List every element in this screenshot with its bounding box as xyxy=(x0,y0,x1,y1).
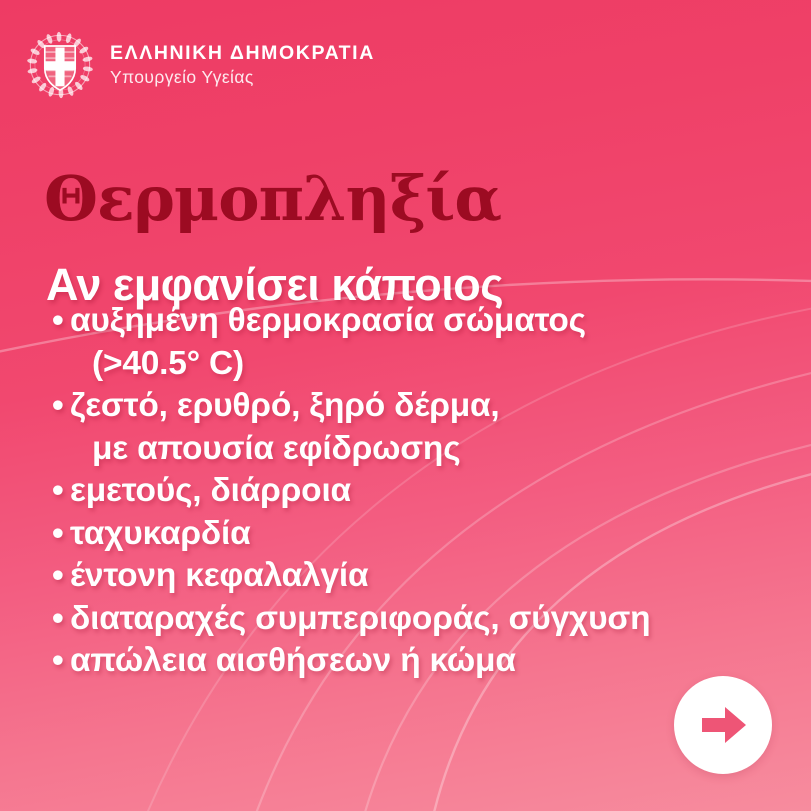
list-item-line2: (>40.5° C) xyxy=(70,343,792,386)
list-item-line1: ζεστό, ερυθρό, ξηρό δέρμα, xyxy=(70,387,500,424)
list-item-text: απώλεια αισθήσεων ή κώμα xyxy=(70,640,792,683)
list-item-line1: απώλεια αισθήσεων ή κώμα xyxy=(70,642,516,679)
page-title: Θερμοπληξία xyxy=(44,168,501,230)
list-item-text: ζεστό, ερυθρό, ξηρό δέρμα,με απουσία εφί… xyxy=(70,385,792,470)
symptom-list: • αυξημένη θερμοκρασία σώματος(>40.5° C)… xyxy=(52,300,792,683)
list-item-line2: με απουσία εφίδρωσης xyxy=(70,428,792,471)
list-item: • ταχυκαρδία xyxy=(52,513,792,556)
list-item-line1: ταχυκαρδία xyxy=(70,515,251,552)
arrow-right-icon[interactable] xyxy=(692,694,754,756)
list-item: • ζεστό, ερυθρό, ξηρό δέρμα,με απουσία ε… xyxy=(52,385,792,470)
list-item-text: αυξημένη θερμοκρασία σώματος(>40.5° C) xyxy=(70,300,792,385)
next-slide-button[interactable] xyxy=(674,676,772,774)
bullet-icon: • xyxy=(52,513,70,556)
list-item-text: εμετούς, διάρροια xyxy=(70,470,792,513)
list-item-text: διαταραχές συμπεριφοράς, σύγχυση xyxy=(70,598,792,641)
list-item-line1: εμετούς, διάρροια xyxy=(70,472,351,509)
poster-canvas: ΕΛΛΗΝΙΚΗ ΔΗΜΟΚΡΑΤΙΑ Υπουργείο Υγείας Θερ… xyxy=(0,0,811,811)
bullet-icon: • xyxy=(52,640,70,683)
list-item-line1: έντονη κεφαλαλγία xyxy=(70,557,368,594)
list-item-line1: διαταραχές συμπεριφοράς, σύγχυση xyxy=(70,600,650,637)
list-item-text: ταχυκαρδία xyxy=(70,513,792,556)
list-item: • έντονη κεφαλαλγία xyxy=(52,555,792,598)
header-text-block: ΕΛΛΗΝΙΚΗ ΔΗΜΟΚΡΑΤΙΑ Υπουργείο Υγείας xyxy=(110,40,375,90)
bullet-icon: • xyxy=(52,555,70,598)
bullet-icon: • xyxy=(52,470,70,513)
header: ΕΛΛΗΝΙΚΗ ΔΗΜΟΚΡΑΤΙΑ Υπουργείο Υγείας xyxy=(22,27,375,103)
list-item: • αυξημένη θερμοκρασία σώματος(>40.5° C) xyxy=(52,300,792,385)
bullet-icon: • xyxy=(52,385,70,428)
bullet-icon: • xyxy=(52,300,70,343)
bullet-icon: • xyxy=(52,598,70,641)
organization-name: ΕΛΛΗΝΙΚΗ ΔΗΜΟΚΡΑΤΙΑ xyxy=(110,42,375,64)
ministry-name: Υπουργείο Υγείας xyxy=(110,66,375,90)
list-item-text: έντονη κεφαλαλγία xyxy=(70,555,792,598)
greek-republic-coat-of-arms-icon xyxy=(22,27,98,103)
list-item: • διαταραχές συμπεριφοράς, σύγχυση xyxy=(52,598,792,641)
list-item-line1: αυξημένη θερμοκρασία σώματος xyxy=(70,302,586,339)
list-item: • απώλεια αισθήσεων ή κώμα xyxy=(52,640,792,683)
list-item: • εμετούς, διάρροια xyxy=(52,470,792,513)
